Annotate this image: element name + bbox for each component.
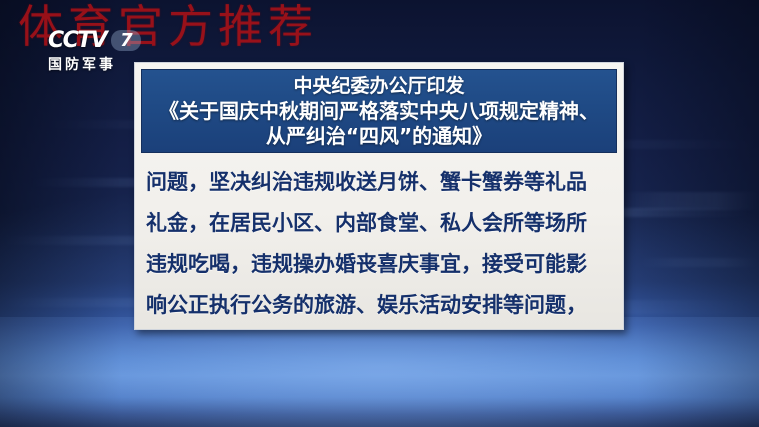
document-card-body: 问题，坚决纠治违规收送月饼、蟹卡蟹券等礼品 礼金，在居民小区、内部食堂、私人会所… <box>141 153 617 326</box>
channel-number: 7 <box>120 32 133 50</box>
document-body-line: 违规吃喝，违规操办婚丧喜庆事宜，接受可能影 <box>146 244 612 285</box>
document-body-line: 响公正执行公务的旅游、娱乐活动安排等问题， <box>146 285 612 326</box>
broadcast-screen: 体育官方推荐 CCTV 7 国防军事 中央纪委办公厅印发 《关于国庆中秋期间严格… <box>0 0 759 427</box>
channel-logo-row: CCTV 7 <box>48 29 168 52</box>
cctv-wordmark: CCTV <box>48 30 106 52</box>
document-title-line: 《关于国庆中秋期间严格落实中央八项规定精神、 <box>159 99 599 124</box>
document-body-line: 问题，坚决纠治违规收送月饼、蟹卡蟹券等礼品 <box>146 162 612 203</box>
document-card-header: 中央纪委办公厅印发 《关于国庆中秋期间严格落实中央八项规定精神、 从严纠治“四风… <box>141 69 617 153</box>
document-title-line: 中央纪委办公厅印发 <box>293 74 464 99</box>
document-title-line: 从严纠治“四风”的通知》 <box>266 124 492 149</box>
document-card: 中央纪委办公厅印发 《关于国庆中秋期间严格落实中央八项规定精神、 从严纠治“四风… <box>134 62 624 330</box>
document-body-line: 礼金，在居民小区、内部食堂、私人会所等场所 <box>146 203 612 244</box>
channel-number-badge: 7 <box>111 30 141 51</box>
